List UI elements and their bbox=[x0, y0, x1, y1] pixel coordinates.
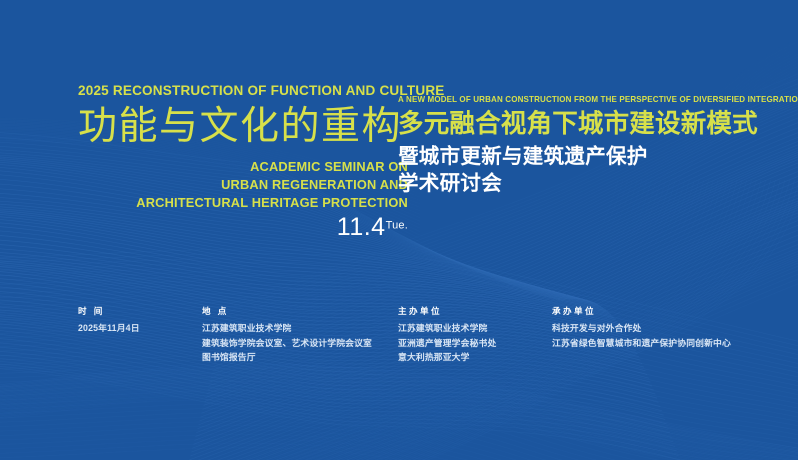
info-column-organizers: 主办单位 江苏建筑职业技术学院 亚洲遗产管理学会秘书处 意大利热那亚大学 bbox=[398, 306, 496, 364]
info-heading: 地 点 bbox=[202, 306, 372, 316]
info-line: 2025年11月4日 bbox=[78, 321, 140, 335]
seminar-english-lines: ACADEMIC SEMINAR ON URBAN REGENERATION A… bbox=[88, 158, 408, 213]
seminar-line-2: URBAN REGENERATION AND bbox=[88, 176, 408, 194]
info-column-co-organizers: 承办单位 科技开发与对外合作处 江苏省绿色智慧城市和遗产保护协同创新中心 bbox=[552, 306, 731, 350]
event-date: 11.4Tue. bbox=[78, 215, 408, 240]
info-line: 图书馆报告厅 bbox=[202, 350, 372, 364]
subtitle-cn-line-1: 暨城市更新与建筑遗产保护 bbox=[398, 143, 738, 170]
subtitle-chinese-main: 多元融合视角下城市建设新模式 bbox=[398, 109, 738, 140]
info-heading: 主办单位 bbox=[398, 306, 496, 316]
seminar-line-3: ARCHITECTURAL HERITAGE PROTECTION bbox=[88, 194, 408, 212]
subtitle-cn-line-2: 学术研讨会 bbox=[398, 170, 738, 197]
info-line: 江苏建筑职业技术学院 bbox=[398, 321, 496, 335]
info-heading: 承办单位 bbox=[552, 306, 731, 316]
info-heading: 时 间 bbox=[78, 306, 140, 316]
kicker-english: 2025 RECONSTRUCTION OF FUNCTION AND CULT… bbox=[78, 84, 393, 100]
info-line: 江苏建筑职业技术学院 bbox=[202, 321, 372, 335]
info-line: 亚洲遗产管理学会秘书处 bbox=[398, 336, 496, 350]
info-line: 意大利热那亚大学 bbox=[398, 350, 496, 364]
subtitle-english: A NEW MODEL OF URBAN CONSTRUCTION FROM T… bbox=[398, 96, 735, 105]
headline-right-block: A NEW MODEL OF URBAN CONSTRUCTION FROM T… bbox=[398, 96, 738, 197]
info-strip: 时 间 2025年11月4日 地 点 江苏建筑职业技术学院 建筑装饰学院会议室、… bbox=[0, 306, 798, 376]
event-date-number: 11.4 bbox=[337, 213, 386, 241]
info-column-venue: 地 点 江苏建筑职业技术学院 建筑装饰学院会议室、艺术设计学院会议室 图书馆报告… bbox=[202, 306, 372, 364]
conference-poster: 2025 RECONSTRUCTION OF FUNCTION AND CULT… bbox=[0, 0, 798, 460]
subtitle-chinese-secondary: 暨城市更新与建筑遗产保护 学术研讨会 bbox=[398, 143, 738, 197]
headline-left-block: 2025 RECONSTRUCTION OF FUNCTION AND CULT… bbox=[78, 84, 408, 240]
info-line: 建筑装饰学院会议室、艺术设计学院会议室 bbox=[202, 336, 372, 350]
event-date-weekday: Tue. bbox=[386, 219, 408, 231]
main-title-chinese: 功能与文化的重构 bbox=[78, 104, 408, 149]
info-line: 江苏省绿色智慧城市和遗产保护协同创新中心 bbox=[552, 336, 731, 350]
seminar-line-1: ACADEMIC SEMINAR ON bbox=[88, 158, 408, 176]
info-column-time: 时 间 2025年11月4日 bbox=[78, 306, 140, 336]
info-line: 科技开发与对外合作处 bbox=[552, 321, 731, 335]
